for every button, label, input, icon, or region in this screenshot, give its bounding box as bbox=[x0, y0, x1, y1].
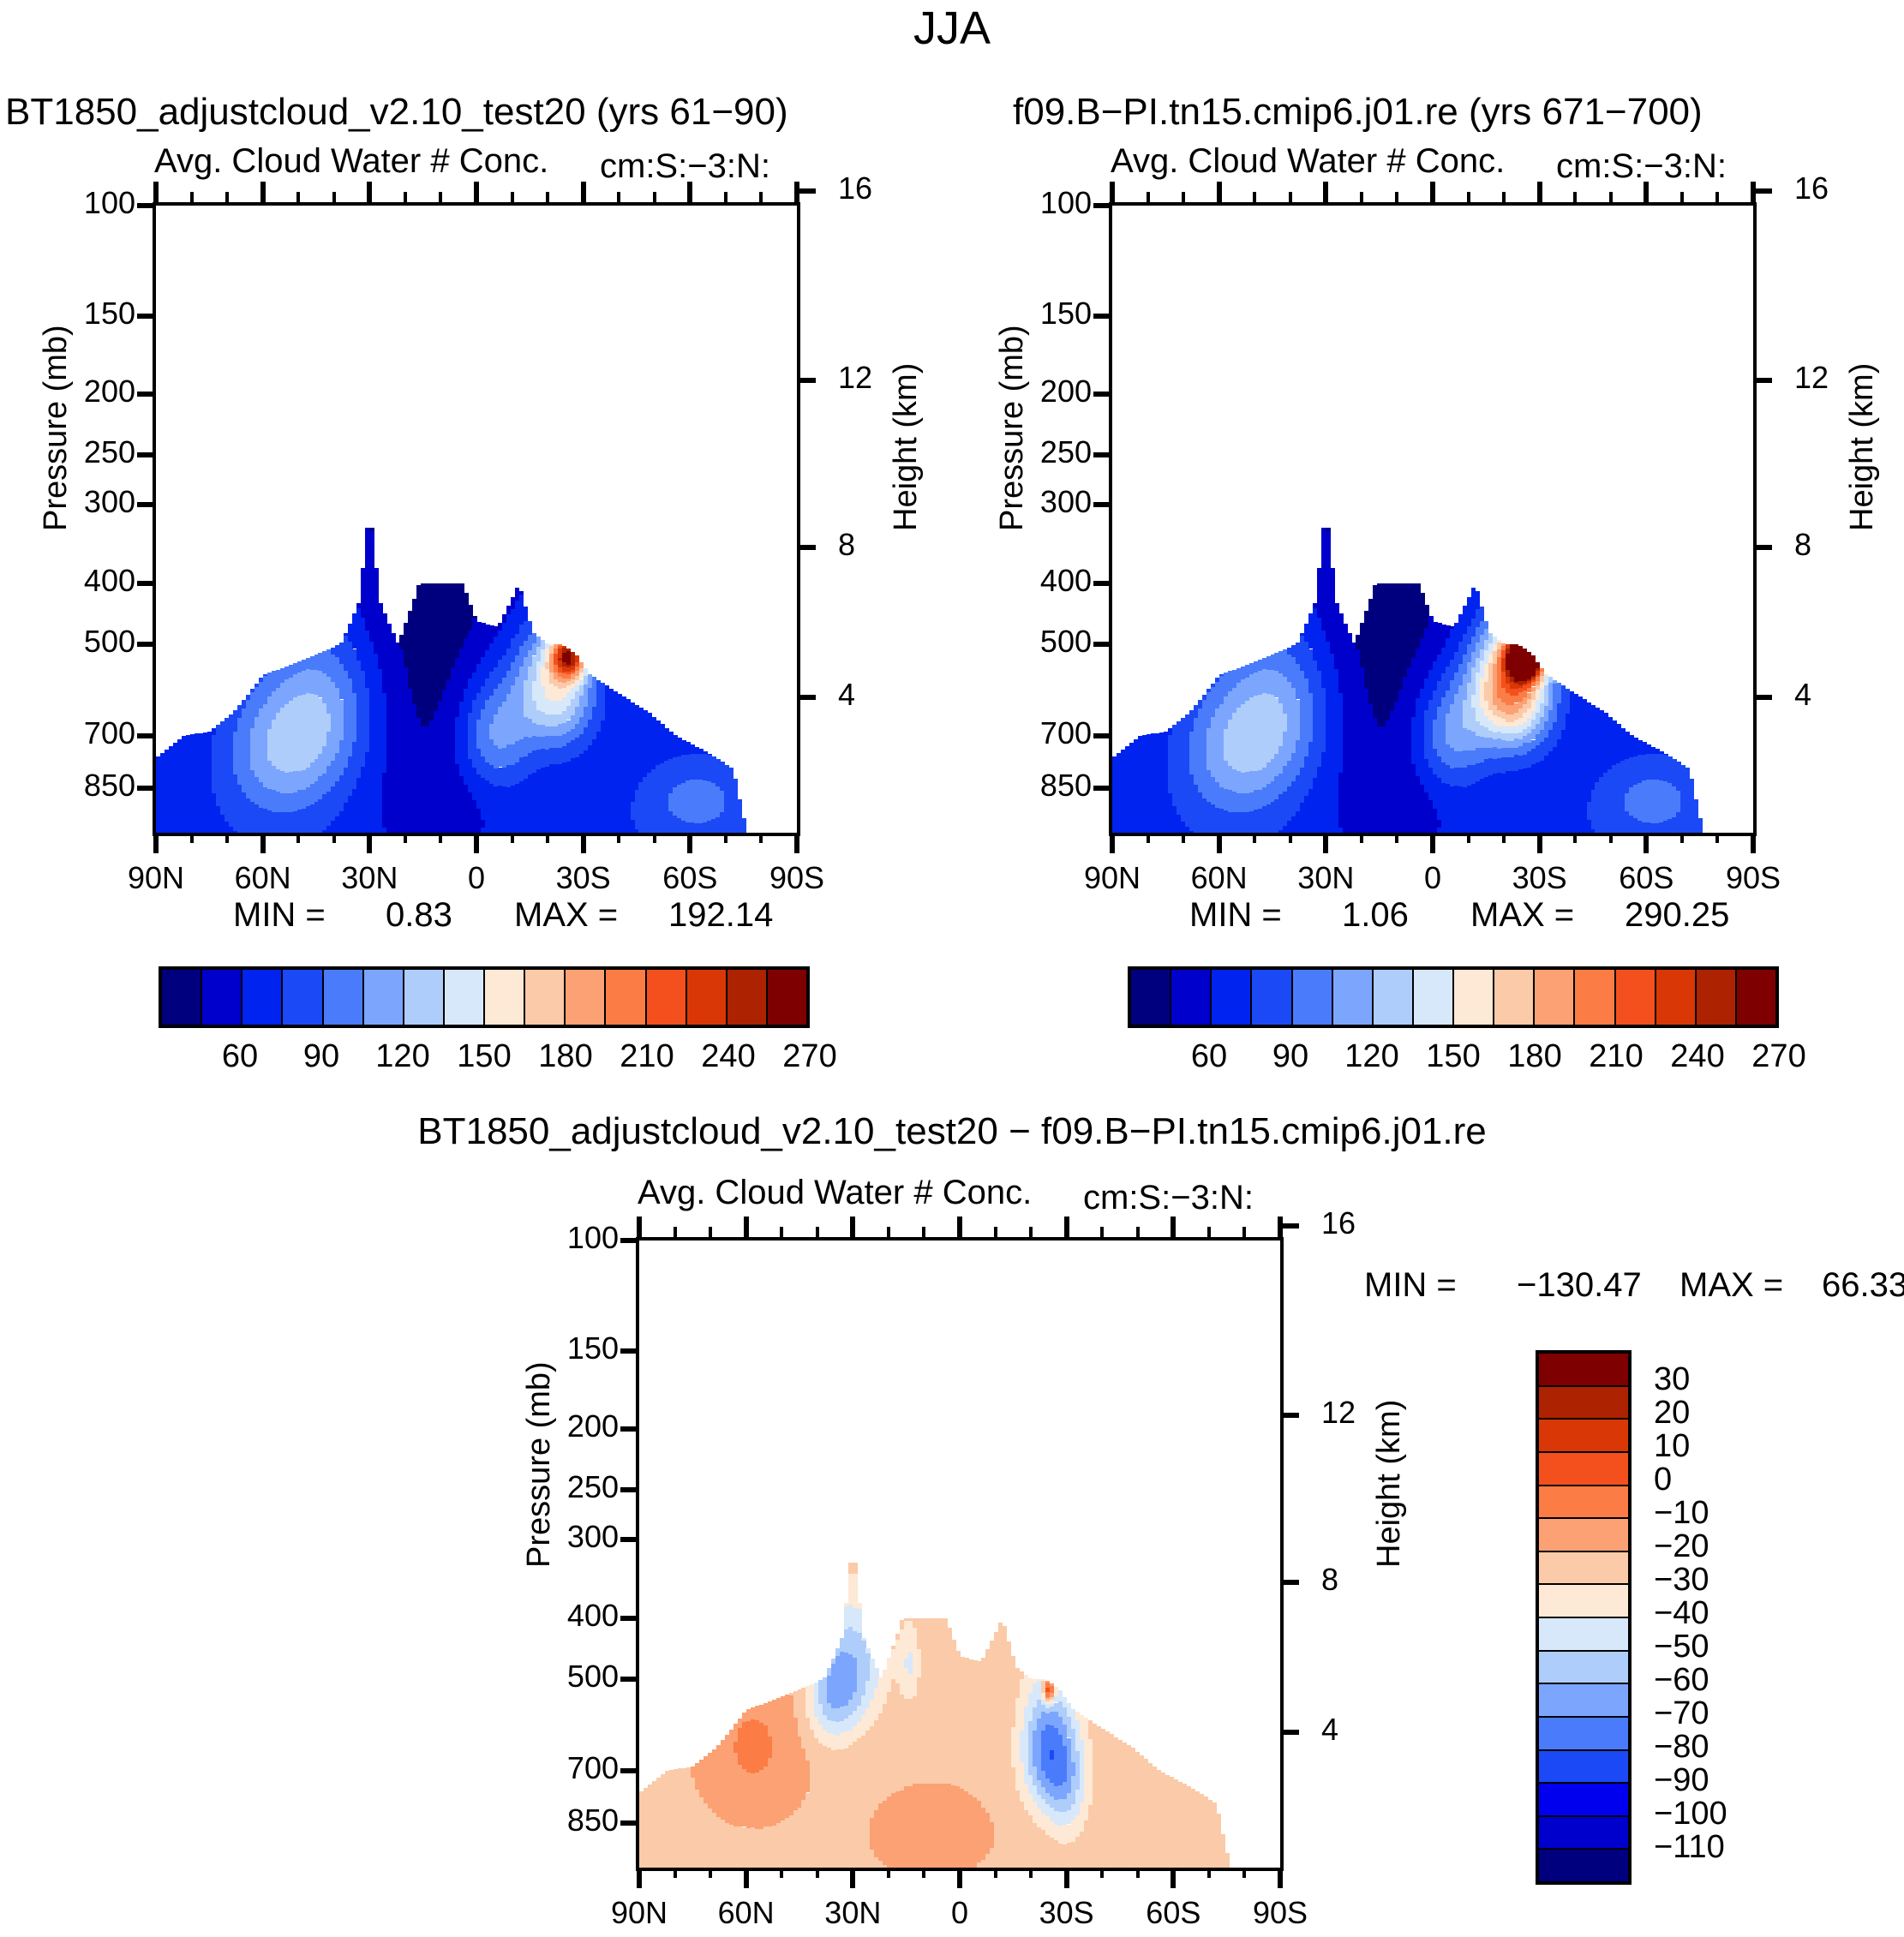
panel-diff-plot-area bbox=[636, 1237, 1284, 1871]
panel-right-max-label: MAX = bbox=[1470, 896, 1574, 935]
lat-top-minor-tickmark bbox=[1253, 192, 1256, 202]
lat-minor-tickmark bbox=[225, 833, 229, 843]
colorbar-tick-label: 60 bbox=[222, 1038, 258, 1075]
lat-tickmark bbox=[1217, 833, 1222, 853]
colorbar-swatch[interactable] bbox=[1539, 1420, 1628, 1453]
lat-minor-tickmark bbox=[1360, 833, 1363, 843]
colorbar-swatch[interactable] bbox=[1737, 970, 1775, 1025]
lat-tickmark bbox=[1278, 1868, 1283, 1888]
lat-top-tickmark bbox=[153, 182, 159, 202]
pressure-tick-label: 150 bbox=[567, 1330, 619, 1366]
pressure-tick-label: 700 bbox=[567, 1750, 619, 1786]
colorbar-swatch[interactable] bbox=[525, 970, 566, 1025]
colorbar-tick-label: −10 bbox=[1654, 1495, 1709, 1532]
lat-minor-tickmark bbox=[1242, 1868, 1246, 1878]
colorbar-swatch[interactable] bbox=[1539, 1618, 1628, 1652]
lat-tick-label: 30S bbox=[1512, 860, 1567, 896]
pressure-tickmark bbox=[1093, 733, 1112, 738]
lat-minor-tickmark bbox=[1609, 833, 1613, 843]
height-tickmark bbox=[1280, 1730, 1299, 1735]
lat-tickmark bbox=[1171, 1868, 1176, 1888]
lat-minor-tickmark bbox=[1029, 1868, 1033, 1878]
lat-minor-tickmark bbox=[1253, 833, 1256, 843]
height-tickmark bbox=[797, 545, 816, 550]
lat-minor-tickmark bbox=[1207, 1868, 1211, 1878]
panel-diff-subtitle: Avg. Cloud Water # Conc. bbox=[638, 1174, 1032, 1212]
pressure-tickmark bbox=[620, 1820, 639, 1826]
colorbar-swatch[interactable] bbox=[1494, 970, 1535, 1025]
lat-tickmark bbox=[1644, 833, 1649, 853]
pressure-tick-label: 200 bbox=[567, 1408, 619, 1444]
colorbar-swatch[interactable] bbox=[647, 970, 687, 1025]
contour-band bbox=[524, 607, 529, 620]
contour-band bbox=[857, 1603, 862, 1610]
height-tickmark bbox=[1753, 545, 1772, 550]
lat-top-minor-tickmark bbox=[1360, 192, 1363, 202]
lat-top-minor-tickmark bbox=[225, 192, 229, 202]
pressure-tick-label: 700 bbox=[1040, 715, 1092, 751]
colorbar-tick-label: −80 bbox=[1654, 1729, 1709, 1766]
lat-tickmark bbox=[957, 1868, 962, 1888]
panel-right-max-value: 290.25 bbox=[1625, 896, 1729, 935]
height-tick-label: 12 bbox=[1321, 1395, 1356, 1431]
lat-tick-label: 60S bbox=[662, 860, 717, 896]
pressure-tick-label: 400 bbox=[567, 1598, 619, 1634]
height-tick-label: 4 bbox=[838, 677, 855, 713]
height-tickmark bbox=[1280, 1223, 1299, 1229]
colorbar-swatch[interactable] bbox=[445, 970, 485, 1025]
main-title: JJA bbox=[913, 2, 991, 55]
contour-band bbox=[1484, 621, 1489, 629]
colorbar-swatch[interactable] bbox=[1539, 1354, 1628, 1387]
lat-top-minor-tickmark bbox=[439, 192, 442, 202]
lat-tickmark bbox=[153, 833, 159, 853]
pressure-tick-label: 850 bbox=[1040, 768, 1092, 804]
colorbar-swatch[interactable] bbox=[768, 970, 806, 1025]
panel-diff-colorbar[interactable] bbox=[1536, 1350, 1632, 1885]
panel-diff-max-value: 66.33 bbox=[1822, 1266, 1904, 1305]
colorbar-swatch[interactable] bbox=[1539, 1652, 1628, 1685]
lat-top-minor-tickmark bbox=[546, 192, 549, 202]
lat-top-minor-tickmark bbox=[1502, 192, 1506, 202]
height-tickmark bbox=[797, 378, 816, 383]
lat-top-minor-tickmark bbox=[816, 1227, 819, 1237]
colorbar-tick-label: −60 bbox=[1654, 1662, 1709, 1699]
lat-minor-tickmark bbox=[724, 833, 727, 843]
colorbar-swatch[interactable] bbox=[1616, 970, 1656, 1025]
lat-top-minor-tickmark bbox=[1467, 192, 1470, 202]
lat-top-minor-tickmark bbox=[1029, 1227, 1033, 1237]
lat-top-tickmark bbox=[850, 1217, 855, 1237]
pressure-tick-label: 250 bbox=[84, 434, 135, 470]
colorbar-swatch[interactable] bbox=[1539, 1751, 1628, 1785]
pressure-tick-label: 400 bbox=[84, 563, 135, 599]
lat-tickmark bbox=[367, 833, 372, 853]
lat-tick-label: 60N bbox=[235, 860, 291, 896]
colorbar-swatch[interactable] bbox=[1539, 1519, 1628, 1552]
lat-tick-label: 30N bbox=[341, 860, 398, 896]
pressure-tick-label: 850 bbox=[84, 768, 135, 804]
lat-minor-tickmark bbox=[994, 1868, 997, 1878]
height-tick-label: 4 bbox=[1321, 1712, 1338, 1748]
lat-minor-tickmark bbox=[709, 1868, 712, 1878]
lat-minor-tickmark bbox=[922, 1868, 925, 1878]
panel-diff-min-value: −130.47 bbox=[1517, 1266, 1642, 1305]
pressure-tickmark bbox=[620, 1238, 639, 1243]
lat-top-tickmark bbox=[1217, 182, 1222, 202]
colorbar-swatch[interactable] bbox=[1252, 970, 1292, 1025]
lat-tickmark bbox=[1110, 833, 1115, 853]
lat-tickmark bbox=[581, 833, 586, 853]
panel-diff-min-label: MIN = bbox=[1364, 1266, 1457, 1305]
lat-top-minor-tickmark bbox=[709, 1227, 712, 1237]
lat-minor-tickmark bbox=[780, 1868, 783, 1878]
lat-minor-tickmark bbox=[653, 833, 656, 843]
lat-tickmark bbox=[637, 1868, 642, 1888]
colorbar-swatch[interactable] bbox=[1697, 970, 1737, 1025]
colorbar-swatch[interactable] bbox=[485, 970, 525, 1025]
lat-top-minor-tickmark bbox=[1609, 192, 1613, 202]
colorbar-swatch[interactable] bbox=[162, 970, 202, 1025]
lat-top-minor-tickmark bbox=[296, 192, 300, 202]
lat-top-minor-tickmark bbox=[780, 1227, 783, 1237]
lat-minor-tickmark bbox=[1573, 833, 1577, 843]
lat-minor-tickmark bbox=[1467, 833, 1470, 843]
pressure-tickmark bbox=[1093, 203, 1112, 208]
colorbar-swatch[interactable] bbox=[1539, 1552, 1628, 1586]
panel-left-ylabel: Pressure (mb) bbox=[38, 325, 75, 531]
lat-top-minor-tickmark bbox=[724, 192, 727, 202]
colorbar-swatch[interactable] bbox=[1333, 970, 1374, 1025]
pressure-tickmark bbox=[137, 392, 156, 397]
pressure-tick-label: 500 bbox=[84, 624, 135, 660]
colorbar-swatch[interactable] bbox=[1539, 1486, 1628, 1520]
lat-tickmark bbox=[794, 833, 799, 853]
lat-minor-tickmark bbox=[674, 1868, 677, 1878]
colorbar-swatch[interactable] bbox=[1454, 970, 1494, 1025]
pressure-tickmark bbox=[620, 1616, 639, 1621]
colorbar-swatch[interactable] bbox=[364, 970, 404, 1025]
lat-tickmark bbox=[1323, 833, 1328, 853]
panel-left-subtitle-overlay: cm:S:−3:N: bbox=[600, 147, 770, 186]
colorbar-swatch[interactable] bbox=[1539, 1453, 1628, 1486]
height-tickmark bbox=[1280, 1580, 1299, 1585]
lat-minor-tickmark bbox=[1289, 833, 1292, 843]
pressure-tick-label: 150 bbox=[84, 296, 135, 332]
lat-top-tickmark bbox=[1644, 182, 1649, 202]
pressure-tickmark bbox=[1093, 392, 1112, 397]
pressure-tick-label: 500 bbox=[567, 1659, 619, 1695]
panel-right-y2label: Height (km) bbox=[1844, 363, 1881, 531]
height-tickmark bbox=[1753, 695, 1772, 700]
contour-band bbox=[857, 1609, 862, 1632]
colorbar-swatch[interactable] bbox=[242, 970, 283, 1025]
lat-minor-tickmark bbox=[1395, 833, 1398, 843]
lat-tick-label: 0 bbox=[951, 1895, 968, 1931]
lat-tickmark bbox=[260, 833, 266, 853]
colorbar-tick-label: 270 bbox=[782, 1038, 836, 1075]
lat-top-minor-tickmark bbox=[1207, 1227, 1211, 1237]
lat-minor-tickmark bbox=[1147, 833, 1150, 843]
lat-top-minor-tickmark bbox=[1395, 192, 1398, 202]
colorbar-tick-label: 90 bbox=[1272, 1038, 1308, 1075]
pressure-tickmark bbox=[137, 581, 156, 586]
colorbar-swatch[interactable] bbox=[1539, 1784, 1628, 1817]
lat-top-minor-tickmark bbox=[653, 192, 656, 202]
lat-top-minor-tickmark bbox=[1147, 192, 1150, 202]
pressure-tickmark bbox=[620, 1768, 639, 1773]
height-tickmark bbox=[1753, 188, 1772, 194]
colorbar-swatch[interactable] bbox=[1539, 1684, 1628, 1718]
panel-diff-ylabel: Pressure (mb) bbox=[521, 1361, 558, 1568]
lat-tick-label: 0 bbox=[468, 860, 485, 896]
height-tick-label: 16 bbox=[838, 170, 872, 206]
colorbar-swatch[interactable] bbox=[1293, 970, 1333, 1025]
pressure-tickmark bbox=[620, 1487, 639, 1492]
panel-right-colorbar[interactable] bbox=[1128, 966, 1779, 1028]
lat-minor-tickmark bbox=[1136, 1868, 1140, 1878]
lat-top-minor-tickmark bbox=[511, 192, 514, 202]
height-tick-label: 12 bbox=[838, 360, 872, 396]
colorbar-tick-label: 120 bbox=[1344, 1038, 1398, 1075]
pressure-tickmark bbox=[1093, 786, 1112, 791]
lat-tick-label: 30N bbox=[1297, 860, 1354, 896]
lat-minor-tickmark bbox=[404, 833, 407, 843]
colorbar-swatch[interactable] bbox=[404, 970, 445, 1025]
pressure-tickmark bbox=[1093, 314, 1112, 319]
colorbar-tick-label: 60 bbox=[1191, 1038, 1227, 1075]
colorbar-swatch[interactable] bbox=[1535, 970, 1575, 1025]
lat-top-tickmark bbox=[957, 1217, 962, 1237]
pressure-tick-label: 300 bbox=[1040, 484, 1092, 520]
lat-top-tickmark bbox=[1323, 182, 1328, 202]
panel-diff-max-label: MAX = bbox=[1679, 1266, 1783, 1305]
lat-tick-label: 60S bbox=[1619, 860, 1673, 896]
lat-top-tickmark bbox=[367, 182, 372, 202]
lat-top-minor-tickmark bbox=[1680, 192, 1684, 202]
lat-tickmark bbox=[1064, 1868, 1069, 1888]
colorbar-tick-label: 210 bbox=[1589, 1038, 1643, 1075]
height-tickmark bbox=[797, 188, 816, 194]
lat-minor-tickmark bbox=[439, 833, 442, 843]
colorbar-swatch[interactable] bbox=[566, 970, 606, 1025]
colorbar-tick-label: 150 bbox=[457, 1038, 511, 1075]
colorbar-swatch[interactable] bbox=[1539, 1718, 1628, 1751]
lat-tick-label: 30S bbox=[556, 860, 611, 896]
colorbar-tick-label: −50 bbox=[1654, 1629, 1709, 1665]
pressure-tickmark bbox=[137, 786, 156, 791]
lat-minor-tickmark bbox=[190, 833, 194, 843]
colorbar-tick-label: 210 bbox=[620, 1038, 674, 1075]
colorbar-tick-label: 0 bbox=[1654, 1462, 1672, 1498]
colorbar-tick-label: 150 bbox=[1426, 1038, 1480, 1075]
lat-top-tickmark bbox=[1171, 1217, 1176, 1237]
colorbar-swatch[interactable] bbox=[687, 970, 727, 1025]
lat-tickmark bbox=[1751, 833, 1756, 853]
pressure-tickmark bbox=[620, 1537, 639, 1542]
colorbar-tick-label: 240 bbox=[1670, 1038, 1724, 1075]
lat-top-tickmark bbox=[687, 182, 692, 202]
lat-tick-label: 90S bbox=[769, 860, 824, 896]
contour-band bbox=[528, 621, 533, 634]
colorbar-swatch[interactable] bbox=[1539, 1387, 1628, 1420]
pressure-tickmark bbox=[137, 203, 156, 208]
pressure-tick-label: 250 bbox=[567, 1469, 619, 1505]
lat-minor-tickmark bbox=[546, 833, 549, 843]
colorbar-tick-label: 240 bbox=[701, 1038, 755, 1075]
panel-left-subtitle: Avg. Cloud Water # Conc. bbox=[154, 142, 548, 181]
pressure-tickmark bbox=[137, 314, 156, 319]
panel-right-plot-area bbox=[1109, 202, 1757, 836]
colorbar-swatch[interactable] bbox=[1131, 970, 1171, 1025]
panel-diff-y2label: Height (km) bbox=[1371, 1400, 1408, 1568]
colorbar-tick-label: 10 bbox=[1654, 1428, 1690, 1465]
lat-minor-tickmark bbox=[617, 833, 620, 843]
lat-top-tickmark bbox=[637, 1217, 642, 1237]
lat-tickmark bbox=[687, 833, 692, 853]
pressure-tick-label: 100 bbox=[1040, 185, 1092, 221]
lat-minor-tickmark bbox=[332, 833, 336, 843]
height-tick-label: 8 bbox=[1794, 527, 1811, 563]
pressure-tick-label: 300 bbox=[84, 484, 135, 520]
lat-top-minor-tickmark bbox=[617, 192, 620, 202]
contour-band bbox=[853, 1563, 858, 1574]
height-tick-label: 16 bbox=[1794, 170, 1829, 206]
height-tick-label: 4 bbox=[1794, 677, 1811, 713]
height-tickmark bbox=[1753, 378, 1772, 383]
panel-right-subtitle: Avg. Cloud Water # Conc. bbox=[1111, 142, 1505, 181]
lat-top-tickmark bbox=[1278, 1217, 1283, 1237]
colorbar-swatch[interactable] bbox=[1414, 970, 1454, 1025]
colorbar-swatch[interactable] bbox=[1539, 1817, 1628, 1850]
lat-tick-label: 90N bbox=[128, 860, 184, 896]
lat-minor-tickmark bbox=[511, 833, 514, 843]
panel-left-plot-area bbox=[153, 202, 800, 836]
colorbar-swatch[interactable] bbox=[1374, 970, 1414, 1025]
colorbar-swatch[interactable] bbox=[1575, 970, 1615, 1025]
pressure-tick-label: 250 bbox=[1040, 434, 1092, 470]
lat-top-minor-tickmark bbox=[994, 1227, 997, 1237]
colorbar-swatch[interactable] bbox=[202, 970, 242, 1025]
pressure-tick-label: 400 bbox=[1040, 563, 1092, 599]
pressure-tick-label: 100 bbox=[84, 185, 135, 221]
colorbar-tick-label: 180 bbox=[538, 1038, 592, 1075]
colorbar-tick-label: 30 bbox=[1654, 1361, 1690, 1398]
lat-top-minor-tickmark bbox=[190, 192, 194, 202]
colorbar-tick-label: −40 bbox=[1654, 1595, 1709, 1632]
colorbar-swatch[interactable] bbox=[1656, 970, 1697, 1025]
lat-top-minor-tickmark bbox=[674, 1227, 677, 1237]
pressure-tick-label: 500 bbox=[1040, 624, 1092, 660]
pressure-tickmark bbox=[137, 502, 156, 507]
lat-top-minor-tickmark bbox=[922, 1227, 925, 1237]
colorbar-tick-label: 120 bbox=[375, 1038, 429, 1075]
lat-top-minor-tickmark bbox=[1715, 192, 1719, 202]
lat-tickmark bbox=[850, 1868, 855, 1888]
panel-right-min-value: 1.06 bbox=[1342, 896, 1409, 935]
panel-left-title: BT1850_adjustcloud_v2.10_test20 (yrs 61−… bbox=[5, 91, 788, 134]
lat-minor-tickmark bbox=[296, 833, 300, 843]
pressure-tickmark bbox=[137, 452, 156, 457]
lat-top-tickmark bbox=[474, 182, 479, 202]
lat-top-tickmark bbox=[1064, 1217, 1069, 1237]
lat-minor-tickmark bbox=[1680, 833, 1684, 843]
lat-top-tickmark bbox=[1110, 182, 1115, 202]
panel-left-min-value: 0.83 bbox=[386, 896, 452, 935]
pressure-tickmark bbox=[620, 1426, 639, 1432]
pressure-tick-label: 100 bbox=[567, 1220, 619, 1256]
panel-left-colorbar[interactable] bbox=[159, 966, 810, 1028]
lat-top-minor-tickmark bbox=[1289, 192, 1292, 202]
contour-band bbox=[1697, 818, 1703, 833]
lat-minor-tickmark bbox=[887, 1868, 890, 1878]
colorbar-swatch[interactable] bbox=[1539, 1850, 1628, 1881]
panel-diff-subtitle-overlay: cm:S:−3:N: bbox=[1083, 1179, 1254, 1217]
colorbar-tick-label: −20 bbox=[1654, 1528, 1709, 1565]
pressure-tick-label: 700 bbox=[84, 715, 135, 751]
colorbar-tick-label: −100 bbox=[1654, 1796, 1727, 1832]
lat-tick-label: 30N bbox=[824, 1895, 881, 1931]
contour-band bbox=[741, 818, 746, 833]
lat-top-minor-tickmark bbox=[1182, 192, 1185, 202]
colorbar-swatch[interactable] bbox=[324, 970, 364, 1025]
lat-tick-label: 0 bbox=[1424, 860, 1441, 896]
lat-tickmark bbox=[474, 833, 479, 853]
lat-top-tickmark bbox=[744, 1217, 749, 1237]
lat-top-minor-tickmark bbox=[404, 192, 407, 202]
pressure-tickmark bbox=[137, 642, 156, 647]
panel-left-y2label: Height (km) bbox=[888, 363, 925, 531]
pressure-tickmark bbox=[620, 1677, 639, 1682]
colorbar-swatch[interactable] bbox=[1171, 970, 1212, 1025]
colorbar-swatch[interactable] bbox=[1212, 970, 1252, 1025]
lat-top-minor-tickmark bbox=[1100, 1227, 1104, 1237]
colorbar-tick-label: 20 bbox=[1654, 1395, 1690, 1432]
lat-minor-tickmark bbox=[1100, 1868, 1104, 1878]
lat-tickmark bbox=[1430, 833, 1435, 853]
lat-top-minor-tickmark bbox=[1242, 1227, 1246, 1237]
colorbar-swatch[interactable] bbox=[283, 970, 323, 1025]
lat-top-tickmark bbox=[1751, 182, 1756, 202]
lat-tick-label: 90S bbox=[1253, 1895, 1308, 1931]
panel-left-max-label: MAX = bbox=[514, 896, 618, 935]
lat-minor-tickmark bbox=[1502, 833, 1506, 843]
pressure-tickmark bbox=[620, 1348, 639, 1354]
colorbar-swatch[interactable] bbox=[1539, 1585, 1628, 1618]
panel-left-max-value: 192.14 bbox=[668, 896, 773, 935]
lat-tickmark bbox=[744, 1868, 749, 1888]
pressure-tick-label: 200 bbox=[1040, 374, 1092, 410]
lat-tick-label: 60S bbox=[1146, 1895, 1200, 1931]
lat-top-minor-tickmark bbox=[1136, 1227, 1140, 1237]
height-tick-label: 12 bbox=[1794, 360, 1829, 396]
lat-tick-label: 90S bbox=[1726, 860, 1781, 896]
pressure-tickmark bbox=[1093, 642, 1112, 647]
lat-tick-label: 60N bbox=[718, 1895, 775, 1931]
pressure-tick-label: 200 bbox=[84, 374, 135, 410]
lat-top-minor-tickmark bbox=[759, 192, 763, 202]
colorbar-tick-label: −30 bbox=[1654, 1562, 1709, 1599]
panel-right-subtitle-overlay: cm:S:−3:N: bbox=[1556, 147, 1727, 186]
pressure-tickmark bbox=[1093, 452, 1112, 457]
height-tick-label: 8 bbox=[1321, 1562, 1338, 1598]
lat-minor-tickmark bbox=[1715, 833, 1719, 843]
lat-tick-label: 30S bbox=[1039, 1895, 1094, 1931]
lat-tickmark bbox=[1537, 833, 1542, 853]
pressure-tick-label: 850 bbox=[567, 1802, 619, 1838]
colorbar-swatch[interactable] bbox=[727, 970, 768, 1025]
colorbar-swatch[interactable] bbox=[606, 970, 646, 1025]
